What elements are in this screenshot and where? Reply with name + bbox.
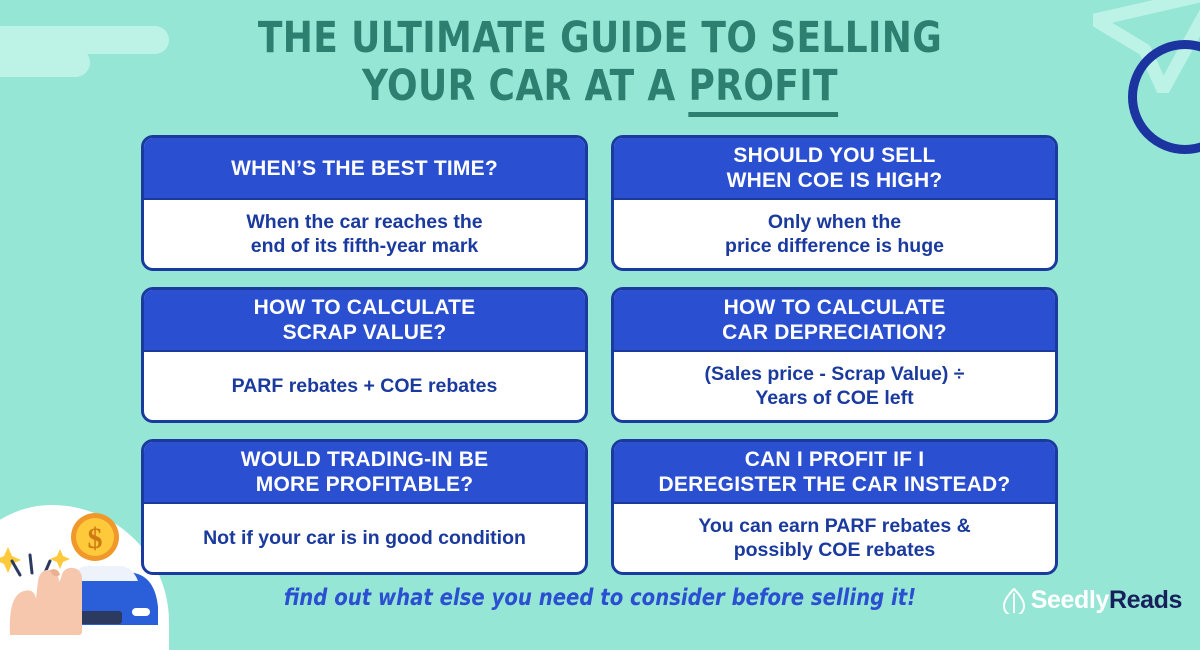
brand-wordmark-seedly: Seedly bbox=[1031, 586, 1109, 614]
page-title-line-2-text: YOUR CAR AT A bbox=[362, 61, 688, 111]
faq-card-trading-in-profitable[interactable]: WOULD TRADING-IN BEMORE PROFITABLE? Not … bbox=[141, 439, 588, 575]
faq-card-best-time[interactable]: WHEN’S THE BEST TIME? When the car reach… bbox=[141, 135, 588, 271]
faq-card-answer: Only when theprice difference is huge bbox=[614, 200, 1055, 268]
brand-logo[interactable]: SeedlyReads bbox=[1003, 586, 1182, 615]
page-title: THE ULTIMATE GUIDE TO SELLING YOUR CAR A… bbox=[42, 14, 1158, 110]
faq-card-answer: When the car reaches theend of its fifth… bbox=[144, 200, 585, 268]
faq-card-header: HOW TO CALCULATECAR DEPRECIATION? bbox=[614, 290, 1055, 352]
faq-card-header: WOULD TRADING-IN BEMORE PROFITABLE? bbox=[144, 442, 585, 504]
faq-card-header: SHOULD YOU SELLWHEN COE IS HIGH? bbox=[614, 138, 1055, 200]
faq-card-answer: (Sales price - Scrap Value) ÷Years of CO… bbox=[614, 352, 1055, 420]
faq-card-calculate-car-depreciation[interactable]: HOW TO CALCULATECAR DEPRECIATION? (Sales… bbox=[611, 287, 1058, 423]
faq-card-calculate-scrap-value[interactable]: HOW TO CALCULATESCRAP VALUE? PARF rebate… bbox=[141, 287, 588, 423]
page-title-line-2: YOUR CAR AT A PROFIT bbox=[42, 62, 1158, 110]
faq-card-answer: You can earn PARF rebates &possibly COE … bbox=[614, 504, 1055, 572]
brand-wordmark: SeedlyReads bbox=[1031, 586, 1182, 615]
faq-card-profit-if-deregister[interactable]: CAN I PROFIT IF IDEREGISTER THE CAR INST… bbox=[611, 439, 1058, 575]
faq-card-answer: Not if your car is in good condition bbox=[144, 504, 585, 572]
faq-card-answer: PARF rebates + COE rebates bbox=[144, 352, 585, 420]
faq-card-header: WHEN’S THE BEST TIME? bbox=[144, 138, 585, 200]
faq-card-header: HOW TO CALCULATESCRAP VALUE? bbox=[144, 290, 585, 352]
brand-wordmark-reads: Reads bbox=[1109, 586, 1182, 614]
page-title-emphasis-profit: PROFIT bbox=[689, 61, 838, 117]
page-title-line-1: THE ULTIMATE GUIDE TO SELLING bbox=[42, 14, 1158, 62]
faq-card-sell-when-coe-high[interactable]: SHOULD YOU SELLWHEN COE IS HIGH? Only wh… bbox=[611, 135, 1058, 271]
svg-text:$: $ bbox=[88, 522, 103, 555]
seedly-leaf-icon bbox=[1003, 588, 1025, 614]
faq-card-header: CAN I PROFIT IF IDEREGISTER THE CAR INST… bbox=[614, 442, 1055, 504]
faq-card-grid: WHEN’S THE BEST TIME? When the car reach… bbox=[141, 135, 1063, 575]
footer-call-to-action: find out what else you need to consider … bbox=[30, 585, 1170, 611]
